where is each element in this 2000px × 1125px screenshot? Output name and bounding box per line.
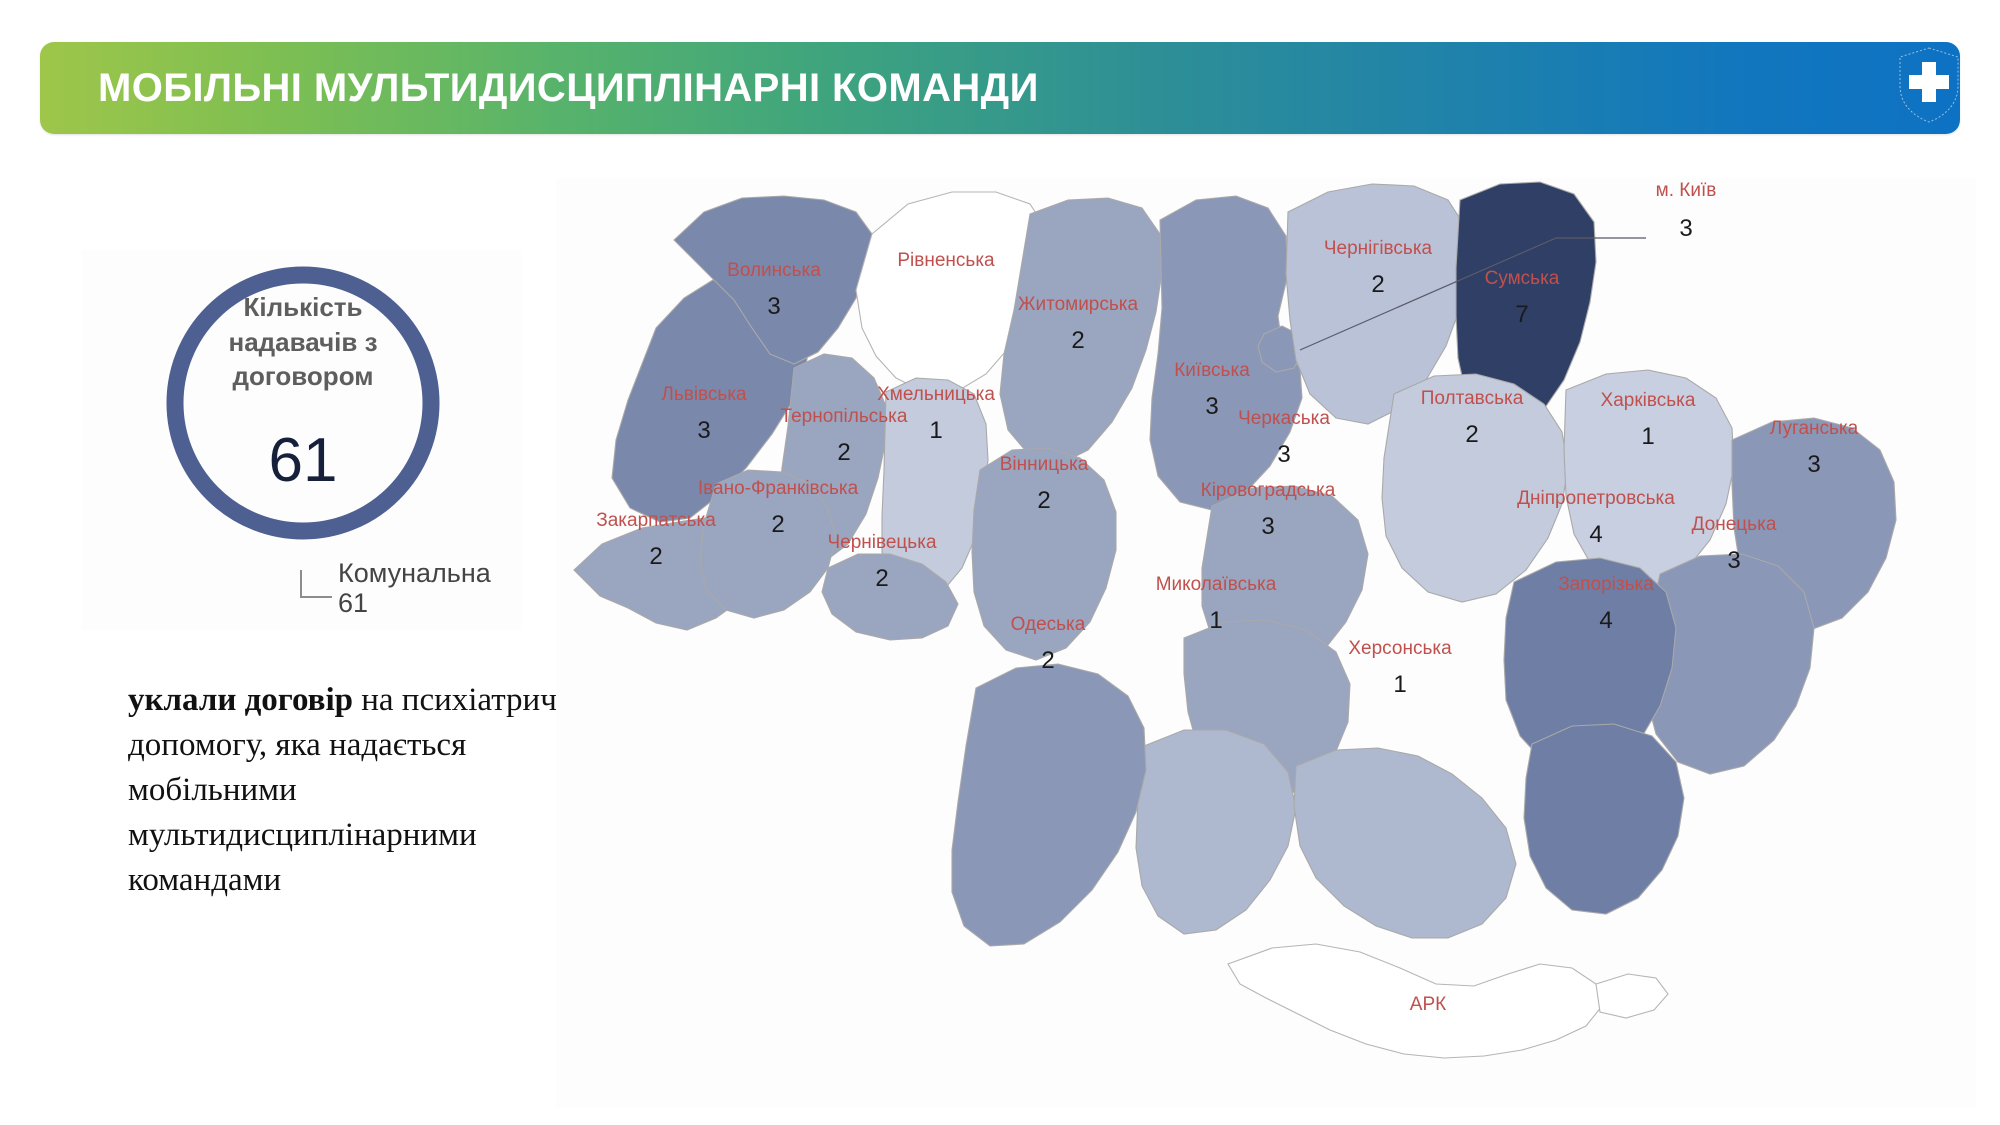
region-value-khersonska: 1 [1393, 671, 1406, 698]
region-label-cherkaska: Черкаська [1238, 408, 1330, 429]
donut-chart-value: 61 [178, 430, 428, 492]
region-odeska[interactable] [952, 664, 1146, 946]
region-value-cherkaska: 3 [1277, 441, 1290, 468]
region-value-sumska: 7 [1515, 301, 1528, 328]
region-value-khmelnytska: 1 [929, 417, 942, 444]
region-label-m-kyiv: м. Київ [1656, 180, 1717, 201]
region-label-sumska: Сумська [1485, 268, 1560, 289]
page-title: МОБІЛЬНІ МУЛЬТИДИСЦИПЛІНАРНІ КОМАНДИ [98, 66, 1039, 111]
region-label-lvivska: Львівська [661, 384, 747, 405]
region-label-vinnytska: Вінницька [1000, 454, 1089, 475]
region-label-dnipropetrovska: Дніпропетровська [1517, 488, 1675, 509]
region-label-mykolaivska: Миколаївська [1156, 574, 1277, 595]
region-value-ivano-frankivska: 2 [771, 511, 784, 538]
region-value-ternopilska: 2 [837, 439, 850, 466]
region-value-vinnytska: 2 [1037, 487, 1050, 514]
region-value-lvivska: 3 [697, 417, 710, 444]
region-label-donetska: Донецька [1692, 514, 1777, 535]
region-value-zaporizka: 4 [1599, 607, 1612, 634]
region-label-odeska: Одеська [1011, 614, 1086, 635]
region-value-volynska: 3 [767, 293, 780, 320]
region-label-zhytomyrska: Житомирська [1018, 294, 1139, 315]
region-value-donetska: 3 [1727, 547, 1740, 574]
region-khersonska[interactable] [1294, 748, 1516, 938]
region-value-m-kyiv: 3 [1679, 215, 1692, 242]
page-header-bar: МОБІЛЬНІ МУЛЬТИДИСЦИПЛІНАРНІ КОМАНДИ [40, 42, 1960, 134]
region-label-ark: АРК [1410, 994, 1446, 1015]
region-value-kharkivska: 1 [1641, 423, 1654, 450]
region-label-poltavska: Полтавська [1421, 388, 1524, 409]
region-label-khmelnytska: Хмельницька [877, 384, 995, 405]
region-label-khersonska: Херсонська [1348, 638, 1452, 659]
legend-count: 61 [338, 588, 368, 620]
region-value-chernivetska: 2 [875, 565, 888, 592]
ukraine-choropleth-map: Волинська 3 Рівненська Львівська 3 Житом… [556, 178, 1976, 1108]
region-value-odeska: 2 [1041, 647, 1054, 674]
region-value-kyivska: 3 [1205, 393, 1218, 420]
shield-plus-icon [1898, 46, 1960, 124]
region-value-luhanska: 3 [1807, 451, 1820, 478]
region-label-kirovogradska: Кіровоградська [1201, 480, 1336, 501]
region-value-chernihivska: 2 [1371, 271, 1384, 298]
region-label-kyivska: Київська [1174, 360, 1250, 381]
region-ark-tail [1596, 974, 1668, 1018]
region-label-kharkivska: Харківська [1601, 390, 1696, 411]
region-label-ternopilska: Тернопільська [781, 406, 908, 427]
region-label-rivnenska: Рівненська [897, 250, 995, 271]
region-value-zhytomyrska: 2 [1071, 327, 1084, 354]
region-value-poltavska: 2 [1465, 421, 1478, 448]
region-value-zakarpatska: 2 [649, 543, 662, 570]
description-bold: уклали договір [128, 682, 353, 718]
region-label-zakarpatska: Закарпатська [596, 510, 716, 531]
donut-chart-title: Кількість надавачів з договором [178, 290, 428, 394]
region-zaporizka[interactable] [1524, 724, 1684, 914]
region-value-kirovogradska: 3 [1261, 513, 1274, 540]
region-mykolaivska[interactable] [1136, 730, 1296, 934]
region-value-mykolaivska: 1 [1209, 607, 1222, 634]
region-label-zaporizka: Запорізька [1558, 574, 1654, 595]
region-label-luhanska: Луганська [1770, 418, 1859, 439]
region-label-chernihivska: Чернігівська [1324, 238, 1433, 259]
legend-bracket [300, 570, 332, 598]
region-label-chernivetska: Чернівецька [827, 532, 936, 553]
map-svg: Волинська 3 Рівненська Львівська 3 Житом… [556, 178, 1976, 1108]
region-label-ivano-frankivska: Івано-Франківська [698, 478, 859, 499]
legend-label: Комунальна [338, 558, 491, 590]
region-label-volynska: Волинська [727, 260, 821, 281]
region-value-dnipropetrovska: 4 [1589, 521, 1602, 548]
description-text: уклали договір на психіатричну допомогу,… [128, 678, 598, 902]
